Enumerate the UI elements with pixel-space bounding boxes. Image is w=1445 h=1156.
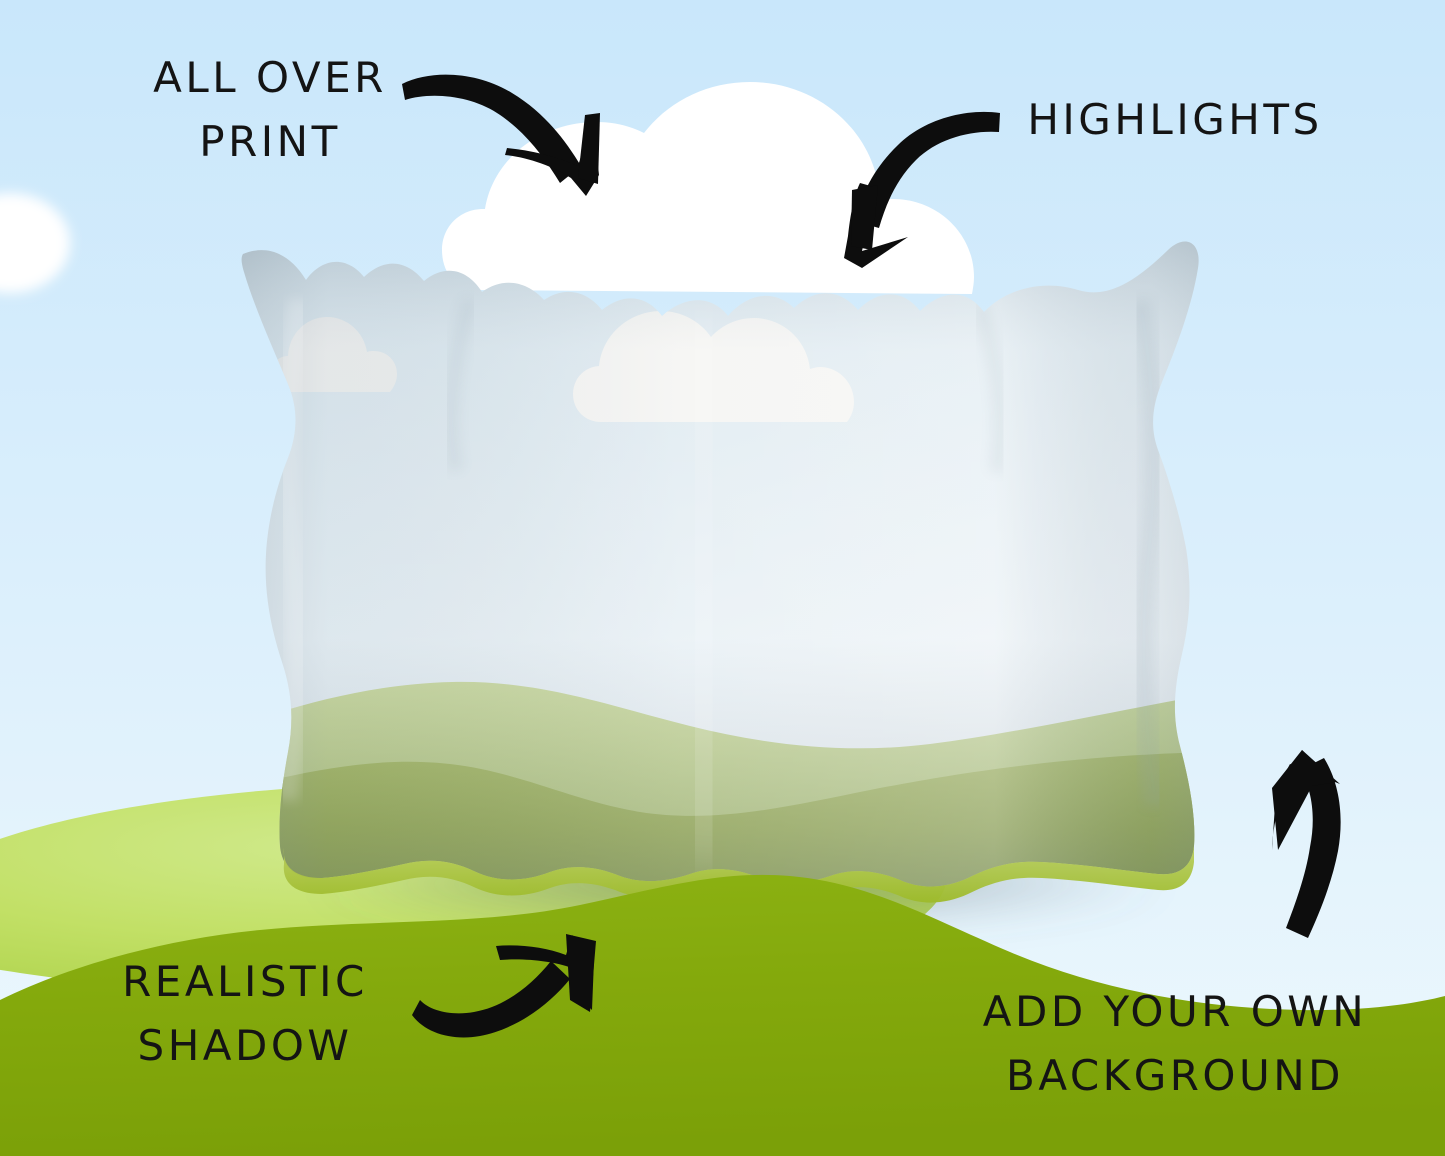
annotation-add-your-own-background: ADD YOUR OWN BACKGROUND xyxy=(960,980,1390,1108)
mockup-stage: ALL OVER PRINT HIGHLIGHTS REALISTIC SHAD… xyxy=(0,0,1445,1156)
annotation-all-over-print: ALL OVER PRINT xyxy=(100,46,440,174)
curved-arrow-up-icon xyxy=(1272,750,1341,938)
annotation-highlights: HIGHLIGHTS xyxy=(980,88,1370,152)
annotation-realistic-shadow: REALISTIC SHADOW xyxy=(80,950,410,1078)
curved-arrow-up-right-icon xyxy=(412,934,596,1037)
